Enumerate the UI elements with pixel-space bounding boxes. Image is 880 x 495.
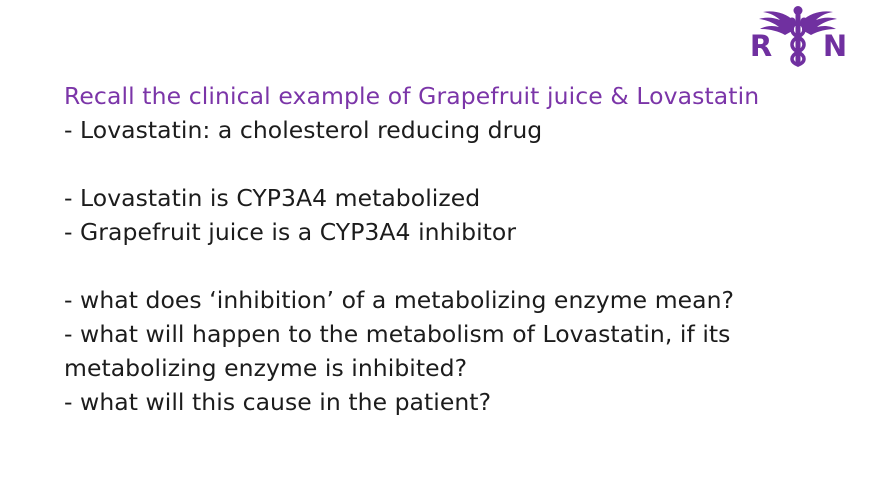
logo-letter-r: R <box>750 29 772 63</box>
question-lovastatin-metabolism: - what will happen to the metabolism of … <box>64 317 824 385</box>
slide-text-content: Recall the clinical example of Grapefrui… <box>64 80 824 419</box>
bullet-grapefruit-cyp3a4-inhibitor: - Grapefruit juice is a CYP3A4 inhibitor <box>64 215 824 249</box>
rn-caduceus-logo: R N <box>744 4 852 70</box>
question-patient-effect: - what will this cause in the patient? <box>64 385 824 419</box>
paragraph-spacer-1 <box>64 147 824 181</box>
slide-canvas: R N Recall the clinical example of Grape… <box>0 0 880 495</box>
logo-letter-n: N <box>823 29 847 63</box>
question-inhibition-meaning: - what does ‘inhibition’ of a metabolizi… <box>64 283 824 317</box>
paragraph-spacer-2 <box>64 249 824 283</box>
slide-title: Recall the clinical example of Grapefrui… <box>64 80 824 113</box>
bullet-lovastatin-definition: - Lovastatin: a cholesterol reducing dru… <box>64 113 824 147</box>
bullet-lovastatin-cyp3a4-metabolized: - Lovastatin is CYP3A4 metabolized <box>64 181 824 215</box>
